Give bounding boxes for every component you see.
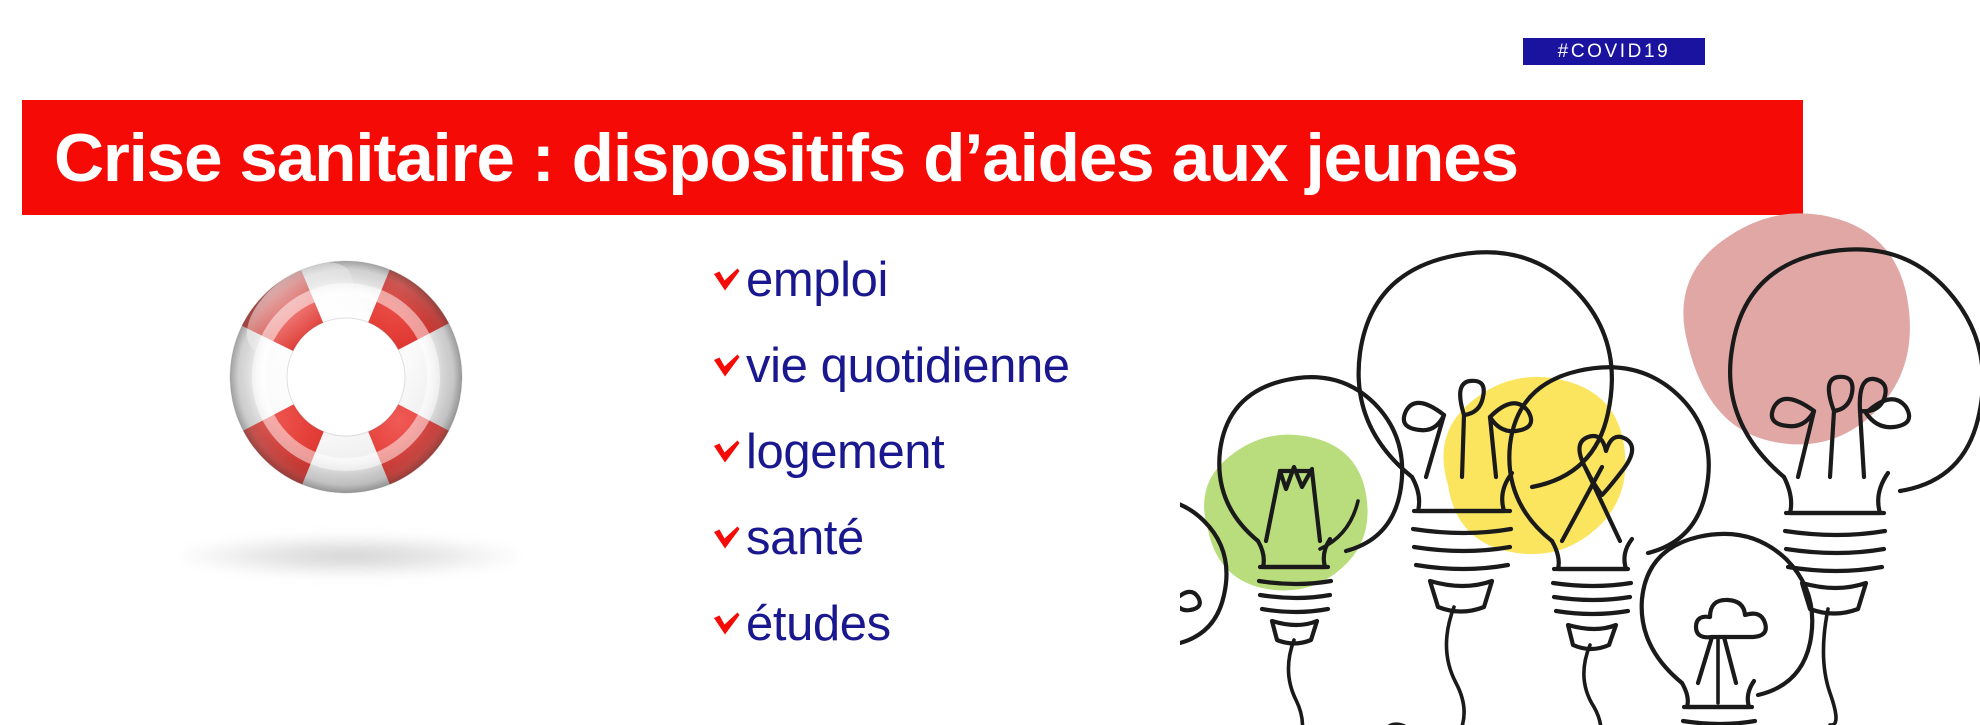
list-item: logement [712, 424, 1232, 510]
check-icon-glyph [712, 268, 742, 294]
check-icon [712, 266, 746, 300]
lifebuoy-illustration [160, 205, 540, 605]
check-icon-glyph [712, 526, 742, 552]
check-icon [712, 352, 746, 386]
list-item-label: santé [746, 510, 864, 566]
lifebuoy-ring [214, 241, 479, 514]
light-bulbs-illustration [1180, 185, 1980, 725]
check-icon-glyph [712, 354, 742, 380]
list-item-label: études [746, 596, 891, 652]
list-item-label: vie quotidienne [746, 338, 1070, 394]
check-icon [712, 438, 746, 472]
check-icon-glyph [712, 612, 742, 638]
list-item-label: logement [746, 424, 944, 480]
light-bulbs-graphic [1180, 185, 1980, 725]
list-item-label: emploi [746, 252, 888, 308]
covid-hashtag-badge: #COVID19 [1523, 38, 1705, 65]
check-icon [712, 610, 746, 644]
check-icon-glyph [712, 440, 742, 466]
check-icon [712, 524, 746, 558]
benefits-list: emploi vie quotidienne logement santé [712, 252, 1232, 682]
list-item: vie quotidienne [712, 338, 1232, 424]
list-item: emploi [712, 252, 1232, 338]
list-item: études [712, 596, 1232, 682]
bulb-small-cloud [1642, 534, 1813, 724]
list-item: santé [712, 510, 1232, 596]
lifebuoy-shadow [180, 535, 520, 577]
